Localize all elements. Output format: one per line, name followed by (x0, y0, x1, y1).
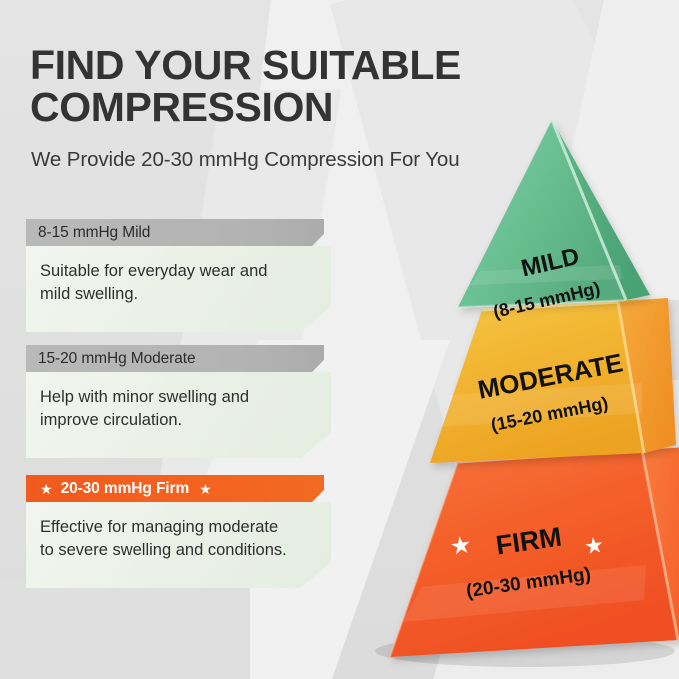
card-header-firm: ★ 20-30 mmHg Firm ★ (26, 475, 324, 502)
card-header-label-mild: 8-15 mmHg Mild (38, 224, 150, 242)
compression-card-moderate[interactable]: 15-20 mmHg Moderate Help with minor swel… (26, 345, 331, 458)
card-body-text-firm: Effective for managing moderate to sever… (40, 516, 315, 563)
card-body-mild: Suitable for everyday wear and mild swel… (26, 246, 331, 332)
compression-card-firm[interactable]: ★ 20-30 mmHg Firm ★ Effective for managi… (26, 475, 331, 588)
star-icon-left: ★ (40, 482, 53, 496)
card-body-text-mild: Suitable for everyday wear and mild swel… (40, 260, 315, 307)
background-panel-6 (0, 580, 250, 679)
compression-pyramid: MILD (8-15 mmHg) MODERATE (15-20 mmHg) F… (330, 95, 679, 675)
firm-star-icon-left: ★ (448, 531, 473, 561)
card-header-mild: 8-15 mmHg Mild (26, 219, 324, 246)
firm-star-icon-right: ★ (582, 532, 605, 560)
card-header-moderate: 15-20 mmHg Moderate (26, 345, 324, 372)
pyramid-tier-mild (458, 120, 650, 307)
compression-card-mild[interactable]: 8-15 mmHg Mild Suitable for everyday wea… (26, 219, 331, 332)
compression-infographic: FIND YOUR SUITABLE COMPRESSION We Provid… (0, 0, 679, 679)
card-body-firm: Effective for managing moderate to sever… (26, 502, 331, 588)
card-body-moderate: Help with minor swelling and improve cir… (26, 372, 331, 458)
card-header-label-moderate: 15-20 mmHg Moderate (38, 350, 195, 368)
card-header-label-firm: 20-30 mmHg Firm (61, 480, 190, 498)
card-body-text-moderate: Help with minor swelling and improve cir… (40, 386, 315, 433)
star-icon-right: ★ (199, 482, 212, 496)
